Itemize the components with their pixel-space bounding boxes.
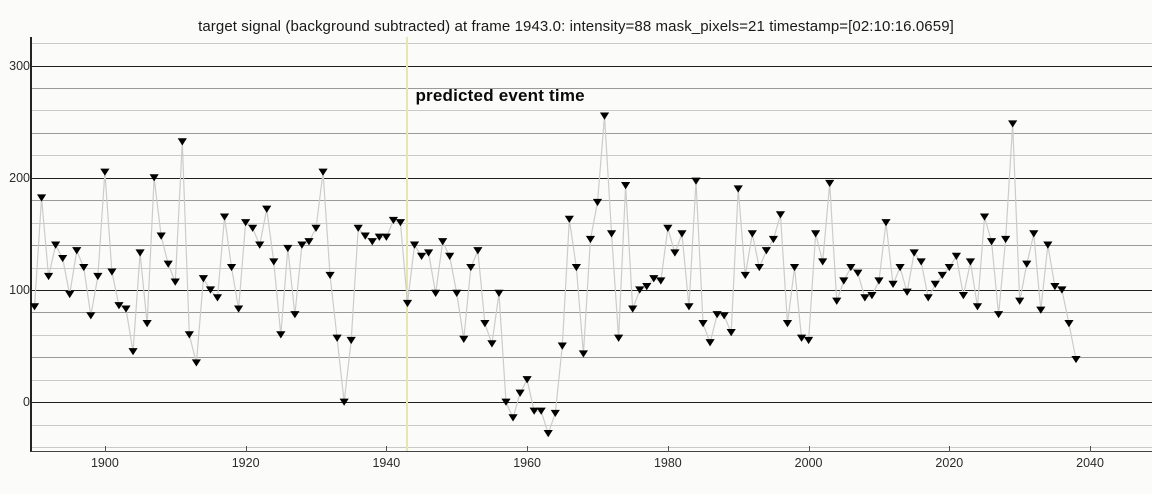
- data-point-marker: [178, 138, 187, 145]
- data-point-marker: [72, 247, 81, 254]
- data-point-marker: [748, 230, 757, 237]
- data-point-marker: [572, 264, 581, 271]
- data-point-marker: [881, 219, 890, 226]
- data-point-marker: [1057, 286, 1066, 293]
- data-point-marker: [480, 320, 489, 327]
- data-point-marker: [755, 264, 764, 271]
- data-point-marker: [150, 174, 159, 181]
- data-point-marker: [811, 230, 820, 237]
- data-point-marker: [107, 268, 116, 275]
- data-point-marker: [649, 275, 658, 282]
- data-point-marker: [579, 350, 588, 357]
- data-point-marker: [987, 238, 996, 245]
- data-point-marker: [248, 225, 257, 232]
- data-point-marker: [234, 305, 243, 312]
- data-point-marker: [37, 194, 46, 201]
- data-point-marker: [410, 242, 419, 249]
- data-point-marker: [276, 331, 285, 338]
- data-point-marker: [966, 258, 975, 265]
- data-point-marker: [586, 236, 595, 243]
- data-point-marker: [255, 242, 264, 249]
- data-point-marker: [157, 233, 166, 240]
- data-point-marker: [164, 261, 173, 268]
- data-point-marker: [487, 340, 496, 347]
- data-point-marker: [684, 303, 693, 310]
- data-point-marker: [924, 294, 933, 301]
- data-point-marker: [290, 311, 299, 318]
- data-point-marker: [903, 289, 912, 296]
- data-point-marker: [459, 336, 468, 343]
- data-point-marker: [368, 238, 377, 245]
- data-point-marker: [523, 376, 532, 383]
- data-point-marker: [269, 258, 278, 265]
- data-point-marker: [333, 335, 342, 342]
- data-series-layer: [0, 0, 1152, 494]
- data-point-marker: [79, 264, 88, 271]
- data-point-marker: [58, 255, 67, 262]
- data-point-marker: [741, 272, 750, 279]
- data-point-marker: [100, 169, 109, 176]
- data-point-marker: [867, 292, 876, 299]
- data-point-marker: [143, 320, 152, 327]
- data-point-marker: [952, 253, 961, 260]
- data-point-marker: [607, 230, 616, 237]
- data-point-marker: [945, 264, 954, 271]
- data-point-marker: [431, 290, 440, 297]
- data-point-marker: [917, 258, 926, 265]
- data-point-marker: [417, 253, 426, 260]
- data-point-marker: [888, 281, 897, 288]
- data-point-marker: [1001, 236, 1010, 243]
- data-point-marker: [818, 258, 827, 265]
- data-point-marker: [790, 264, 799, 271]
- data-point-marker: [213, 294, 222, 301]
- data-point-marker: [593, 199, 602, 206]
- data-point-marker: [199, 275, 208, 282]
- data-point-marker: [206, 286, 215, 293]
- data-point-marker: [325, 272, 334, 279]
- chart-canvas: target signal (background subtracted) at…: [0, 0, 1152, 494]
- data-point-marker: [403, 300, 412, 307]
- data-point-marker: [783, 320, 792, 327]
- data-point-marker: [776, 211, 785, 218]
- data-point-marker: [192, 359, 201, 366]
- data-point-marker: [727, 329, 736, 336]
- data-point-marker: [804, 337, 813, 344]
- data-point-marker: [396, 219, 405, 226]
- data-point-marker: [93, 273, 102, 280]
- data-point-marker: [262, 206, 271, 213]
- data-point-marker: [1022, 261, 1031, 268]
- data-point-marker: [705, 339, 714, 346]
- data-point-marker: [910, 249, 919, 256]
- data-point-marker: [501, 399, 510, 406]
- data-point-marker: [340, 399, 349, 406]
- data-point-marker: [1036, 307, 1045, 314]
- data-point-marker: [1015, 298, 1024, 305]
- data-point-marker: [354, 225, 363, 232]
- data-point-marker: [1008, 120, 1017, 127]
- data-point-marker: [769, 236, 778, 243]
- data-point-marker: [1071, 356, 1080, 363]
- data-point-marker: [980, 213, 989, 220]
- data-point-marker: [762, 247, 771, 254]
- data-point-marker: [860, 294, 869, 301]
- data-point-marker: [614, 335, 623, 342]
- data-point-marker: [959, 292, 968, 299]
- data-point-marker: [86, 312, 95, 319]
- data-point-marker: [677, 230, 686, 237]
- data-point-marker: [832, 298, 841, 305]
- data-point-marker: [600, 112, 609, 119]
- data-point-marker: [466, 264, 475, 271]
- data-point-marker: [438, 238, 447, 245]
- data-point-marker: [128, 348, 137, 355]
- data-point-marker: [663, 225, 672, 232]
- data-point-marker: [1043, 242, 1052, 249]
- data-point-marker: [452, 290, 461, 297]
- data-point-marker: [515, 390, 524, 397]
- data-point-marker: [227, 264, 236, 271]
- data-point-marker: [171, 279, 180, 286]
- data-point-marker: [1064, 320, 1073, 327]
- data-point-marker: [1029, 230, 1038, 237]
- data-point-marker: [628, 305, 637, 312]
- data-point-marker: [565, 216, 574, 223]
- data-point-marker: [895, 264, 904, 271]
- data-point-marker: [121, 305, 130, 312]
- data-point-marker: [283, 245, 292, 252]
- data-point-marker: [551, 410, 560, 417]
- data-point-marker: [508, 414, 517, 421]
- data-point-marker: [544, 430, 553, 437]
- data-point-marker: [318, 169, 327, 176]
- data-point-marker: [931, 281, 940, 288]
- data-point-marker: [797, 335, 806, 342]
- data-point-marker: [825, 180, 834, 187]
- series-line-0: [35, 116, 1076, 434]
- data-point-marker: [621, 182, 630, 189]
- data-point-marker: [973, 303, 982, 310]
- data-point-marker: [558, 342, 567, 349]
- data-point-marker: [670, 249, 679, 256]
- data-point-marker: [44, 273, 53, 280]
- data-point-marker: [874, 277, 883, 284]
- data-point-marker: [51, 242, 60, 249]
- data-point-marker: [494, 290, 503, 297]
- data-point-marker: [853, 270, 862, 277]
- data-point-marker: [311, 225, 320, 232]
- data-point-marker: [635, 286, 644, 293]
- data-point-marker: [220, 213, 229, 220]
- data-point-marker: [135, 249, 144, 256]
- data-point-marker: [473, 247, 482, 254]
- data-point-marker: [389, 217, 398, 224]
- data-point-marker: [698, 320, 707, 327]
- data-point-marker: [347, 337, 356, 344]
- data-point-marker: [30, 303, 39, 310]
- data-point-marker: [734, 185, 743, 192]
- data-point-marker: [938, 272, 947, 279]
- data-point-marker: [445, 253, 454, 260]
- data-point-marker: [185, 331, 194, 338]
- data-point-marker: [297, 242, 306, 249]
- data-point-marker: [839, 277, 848, 284]
- data-point-marker: [691, 178, 700, 185]
- data-point-marker: [656, 277, 665, 284]
- data-point-marker: [65, 291, 74, 298]
- data-point-marker: [994, 311, 1003, 318]
